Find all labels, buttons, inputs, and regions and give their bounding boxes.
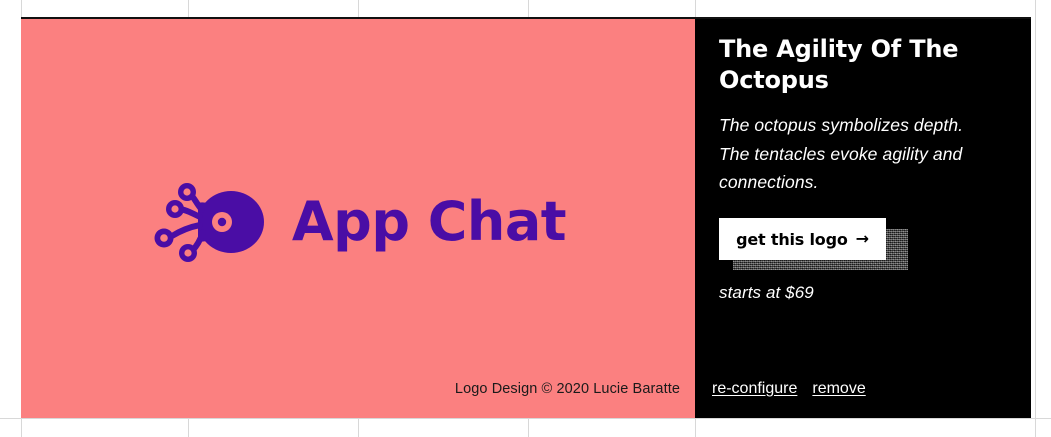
logo-description: The octopus symbolizes depth. The tentac… <box>719 111 991 196</box>
logo-credit-text: Logo Design © 2020 Lucie Baratte <box>455 381 680 397</box>
octopus-logo-mark <box>150 179 270 265</box>
logo-result-card: App Chat Logo Design © 2020 Lucie Baratt… <box>21 19 1031 418</box>
logo-actions: re-configure remove <box>712 380 866 398</box>
arrow-right-icon: → <box>856 231 869 247</box>
grid-column-line <box>1035 0 1036 437</box>
logo-info-pane: The Agility Of The Octopus The octopus s… <box>695 19 1031 418</box>
get-this-logo-button[interactable]: get this logo → <box>719 218 886 260</box>
get-this-logo-label: get this logo <box>736 230 847 249</box>
logo-lockup: App Chat <box>21 179 695 265</box>
grid-row-line <box>0 418 1051 419</box>
logo-title: The Agility Of The Octopus <box>719 34 969 95</box>
re-configure-link[interactable]: re-configure <box>712 380 797 398</box>
logo-preview-pane: App Chat Logo Design © 2020 Lucie Baratt… <box>21 19 695 418</box>
remove-link[interactable]: remove <box>812 380 865 398</box>
logo-wordmark: App Chat <box>292 195 566 249</box>
get-this-logo-wrapper: get this logo → <box>719 218 899 260</box>
price-note: starts at $69 <box>719 283 1005 303</box>
